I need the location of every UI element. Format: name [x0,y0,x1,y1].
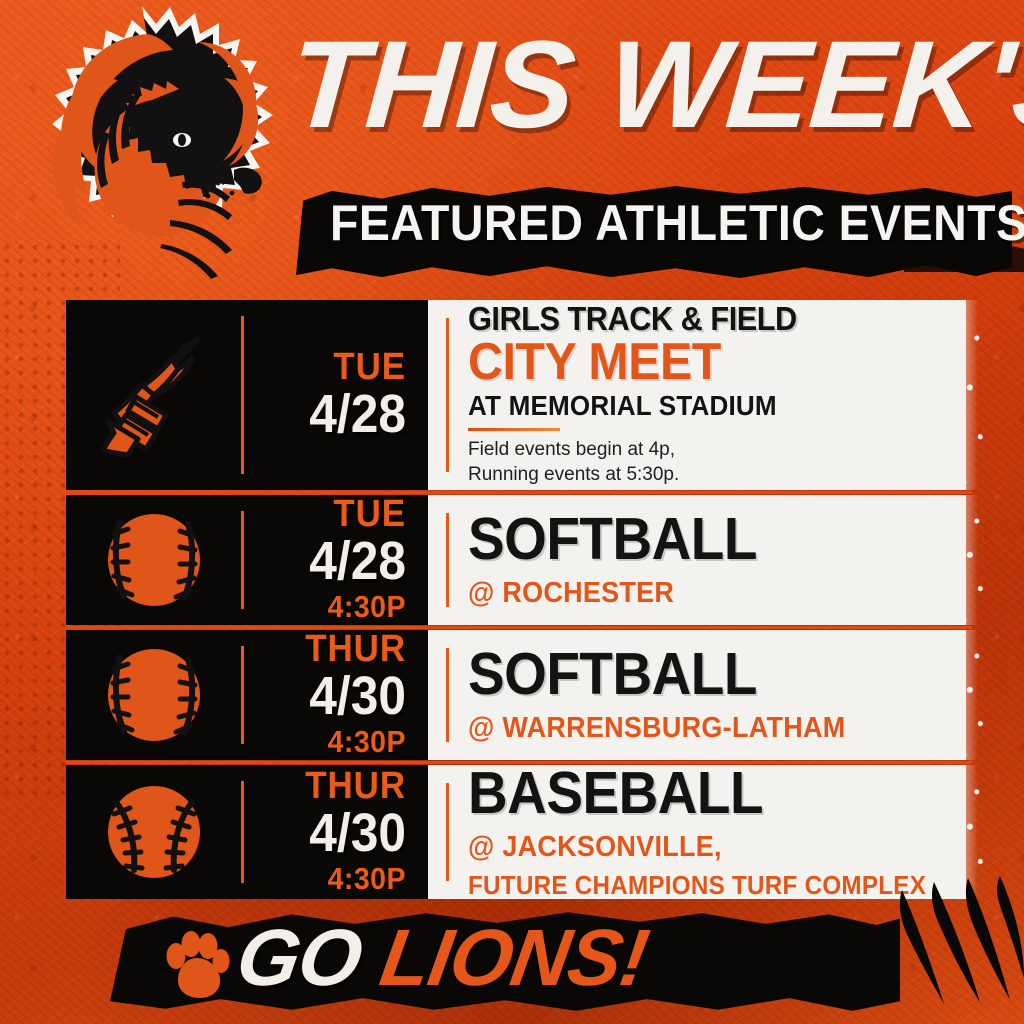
footer-cheer: GO LIONS! [232,918,653,998]
event-icon-cell [66,508,241,612]
event-note-line-1: Field events begin at 4p, [468,437,821,462]
event-detail-panel: GIRLS TRACK & FIELD CITY MEET AT MEMORIA… [428,300,966,490]
event-headline: CITY MEET [468,337,797,388]
event-time: 4:30P [254,861,406,897]
baseball-icon [102,780,206,884]
event-sport: SOFTBALL [468,646,845,704]
event-location: @ WARRENSBURG-LATHAM [468,713,845,744]
row-divider [66,626,972,629]
event-location-line-2: FUTURE CHAMPIONS TURF COMPLEX [468,872,926,900]
winged-foot-track-icon [102,333,206,457]
accent-bar [446,513,449,607]
event-sport: SOFTBALL [468,511,757,569]
event-icon-cell [66,643,241,747]
event-date: 4/30 [254,806,406,861]
column-divider [241,316,244,474]
event-date-cell: TUE 4/28 [241,348,428,443]
row-divider [66,491,972,494]
event-icon-cell [66,333,241,457]
event-day-of-week: TUE [254,348,406,388]
event-date-panel: THUR 4/30 4:30P [66,630,428,760]
event-note-line-2: Running events at 5:30p. [468,462,821,487]
event-row[interactable]: TUE 4/28 GIRLS TRACK & FIELD CITY MEET A… [66,300,966,490]
softball-icon [102,508,206,612]
event-subtitle: AT MEMORIAL STADIUM [468,391,797,420]
softball-icon [102,643,206,747]
event-time: 4:30P [254,724,406,760]
headline-this-weeks: THIS WEEK'S [286,28,1008,142]
claw-marks-icon [874,874,1024,1024]
event-row[interactable]: THUR 4/30 4:30P BASEBALL @ JACKSONVILLE,… [66,765,966,899]
event-date-cell: THUR 4/30 4:30P [241,630,428,760]
event-date: 4/28 [254,534,406,589]
accent-bar [446,783,449,881]
event-date-cell: TUE 4/28 4:30P [241,495,428,625]
event-detail-panel: SOFTBALL @ ROCHESTER [428,495,966,625]
event-row[interactable]: THUR 4/30 4:30P SOFTBALL @ WARRENSBURG-L… [66,630,966,760]
paw-print-icon [164,930,230,1000]
event-location: @ JACKSONVILLE, [468,832,926,863]
event-date-cell: THUR 4/30 4:30P [241,767,428,897]
event-location: @ ROCHESTER [468,578,757,609]
accent-bar [446,318,449,472]
events-list: TUE 4/28 GIRLS TRACK & FIELD CITY MEET A… [66,300,966,904]
column-divider [241,511,244,609]
event-day-of-week: THUR [254,767,406,807]
event-date: 4/30 [254,669,406,724]
detail-underline [468,428,560,431]
event-date: 4/28 [254,387,406,442]
lion-head-mascot-icon [0,4,308,310]
event-date-panel: TUE 4/28 [66,300,428,490]
event-day-of-week: TUE [254,495,406,535]
event-sport: BASEBALL [468,765,926,823]
event-row[interactable]: TUE 4/28 4:30P SOFTBALL @ ROCHESTER [66,495,966,625]
cheer-lions: LIONS! [353,913,653,1002]
event-date-panel: THUR 4/30 4:30P [66,765,428,899]
event-detail-panel: SOFTBALL @ WARRENSBURG-LATHAM [428,630,966,760]
event-sport: GIRLS TRACK & FIELD [468,303,797,335]
column-divider [241,646,244,744]
event-icon-cell [66,780,241,884]
column-divider [241,781,244,883]
event-date-panel: TUE 4/28 4:30P [66,495,428,625]
page-title: THIS WEEK'S [290,28,990,142]
event-day-of-week: THUR [254,630,406,670]
header-subtitle: FEATURED ATHLETIC EVENTS: [330,198,972,248]
accent-bar [446,648,449,742]
event-time: 4:30P [254,589,406,625]
cheer-go: GO [231,913,368,1002]
